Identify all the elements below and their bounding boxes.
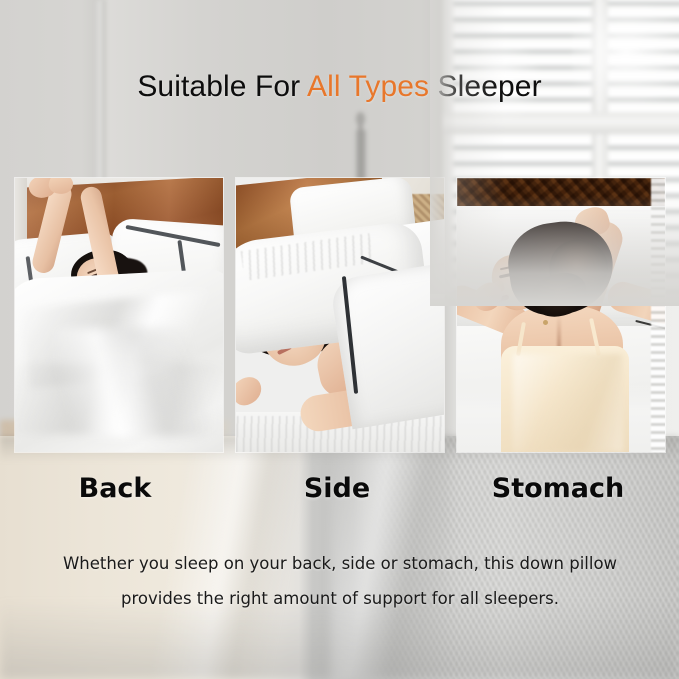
shutter-bottom-fade — [430, 196, 679, 306]
title-part-before: Suitable For — [137, 70, 307, 103]
label-stomach: Stomach — [455, 475, 661, 502]
panel-back-sleeper — [15, 178, 223, 452]
product-feature-graphic: Suitable For All Types Sleeper — [0, 0, 679, 679]
title-accent: All Types — [307, 70, 429, 103]
caption-text: Whether you sleep on your back, side or … — [40, 546, 640, 617]
caption-line-2: provides the right amount of support for… — [40, 581, 640, 616]
caption-line-1: Whether you sleep on your back, side or … — [40, 546, 640, 581]
panel-labels: Back Side Stomach — [0, 470, 679, 510]
panel-side-sleeper — [236, 178, 444, 452]
label-back: Back — [0, 475, 230, 502]
label-side: Side — [232, 475, 442, 502]
bedpost-finial — [353, 112, 368, 182]
